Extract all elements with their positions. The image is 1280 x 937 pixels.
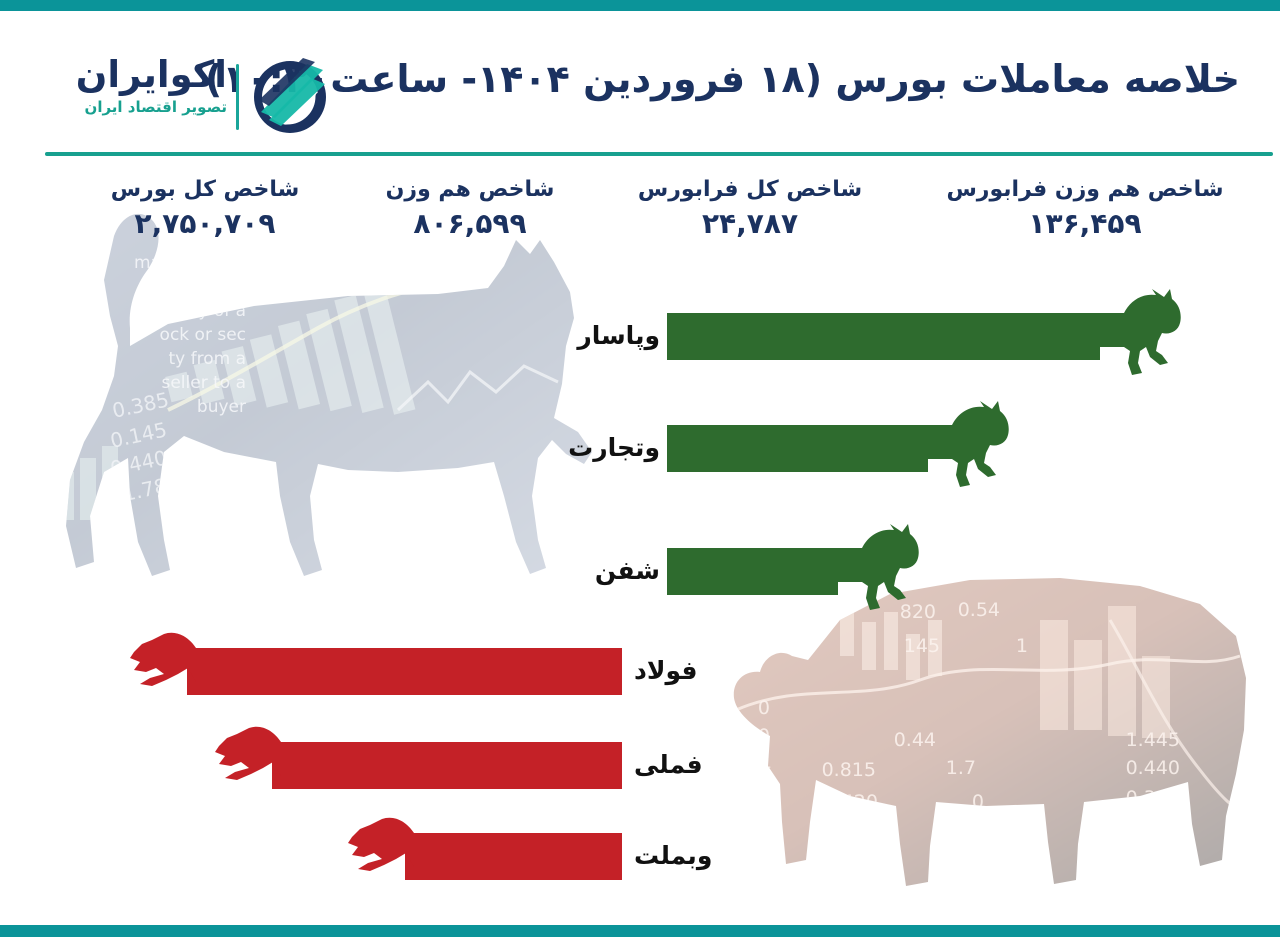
header-divider xyxy=(45,152,1273,156)
index-card-equal-weight-farabourse: شاخص هم وزن فرابورس ۱۳۶,۴۵۹ xyxy=(910,176,1260,242)
index-label: شاخص کل بورس xyxy=(80,176,330,204)
eco-iran-logo-icon xyxy=(249,56,331,138)
brand-logo: اکوایران تصویر اقتصاد ایران xyxy=(46,52,331,148)
top-accent-bar xyxy=(0,0,1280,11)
bar-label-red-0: فولاد xyxy=(634,658,754,683)
bear-icon xyxy=(130,624,260,720)
index-card-equal-weight: شاخص هم وزن ۸۰۶,۵۹۹ xyxy=(350,176,590,242)
logo-name: اکوایران xyxy=(49,56,227,95)
index-value: ۲۴,۷۸۷ xyxy=(620,206,880,242)
bear-icon xyxy=(348,809,478,905)
page-header: خلاصه معاملات بورس (۱۸ فروردین ۱۴۰۴- ساع… xyxy=(0,28,1280,146)
page-title: خلاصه معاملات بورس (۱۸ فروردین ۱۴۰۴- ساع… xyxy=(380,56,1240,104)
index-label: شاخص هم وزن فرابورس xyxy=(910,176,1260,204)
index-value: ۸۰۶,۵۹۹ xyxy=(350,206,590,242)
index-summary-row: شاخص کل بورس ۲,۷۵۰,۷۰۹ شاخص هم وزن ۸۰۶,۵… xyxy=(0,176,1280,262)
bar-green-0 xyxy=(667,313,1100,360)
bull-icon xyxy=(790,524,920,620)
logo-wordmark: اکوایران تصویر اقتصاد ایران xyxy=(49,56,227,115)
bar-label-green-1: وتجارت xyxy=(560,435,660,460)
index-label: شاخص کل فرابورس xyxy=(620,176,880,204)
index-value: ۱۳۶,۴۵۹ xyxy=(910,206,1260,242)
bar-label-green-2: شفن xyxy=(560,558,660,583)
logo-divider xyxy=(236,64,239,130)
infographic-canvas: 0.385 0.145 0.440 1.78 0.420 245 335 mar… xyxy=(0,0,1280,937)
bull-icon xyxy=(1052,289,1182,385)
bear-icon xyxy=(215,718,345,814)
bar-label-red-1: فملی xyxy=(634,752,754,777)
index-card-total-bourse: شاخص کل بورس ۲,۷۵۰,۷۰۹ xyxy=(80,176,330,242)
index-label: شاخص هم وزن xyxy=(350,176,590,204)
bull-icon xyxy=(880,401,1010,497)
bar-label-red-2: وبملت xyxy=(634,843,754,868)
index-card-total-farabourse: شاخص کل فرابورس ۲۴,۷۸۷ xyxy=(620,176,880,242)
bar-label-green-0: وپاسار xyxy=(560,323,660,348)
bar-chart: وپاسار وتجارت شفن xyxy=(0,262,1280,922)
bottom-accent-bar xyxy=(0,925,1280,937)
logo-tagline: تصویر اقتصاد ایران xyxy=(49,99,227,116)
index-value: ۲,۷۵۰,۷۰۹ xyxy=(80,206,330,242)
